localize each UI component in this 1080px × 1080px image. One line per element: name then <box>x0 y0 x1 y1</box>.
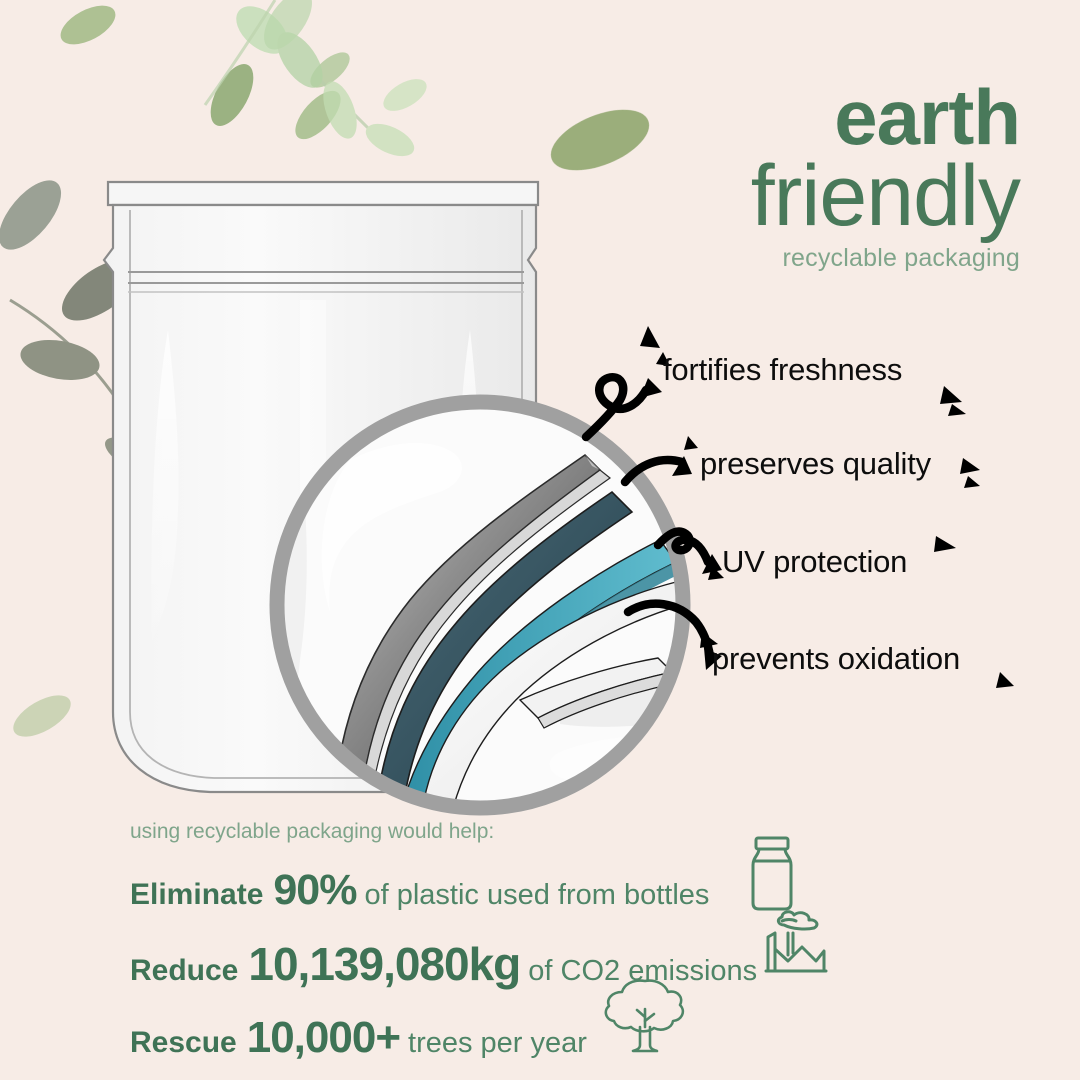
bottle-icon <box>740 835 804 913</box>
stat-rest: trees per year <box>408 1027 587 1060</box>
factory-icon <box>762 903 830 975</box>
feature-label-fortifies-freshness: fortifies freshness <box>663 352 902 388</box>
headline-line-2: friendly <box>620 154 1020 238</box>
stat-value: 10,139,080kg <box>248 937 520 991</box>
stat-verb: Reduce <box>130 954 238 988</box>
headline-subtitle: recyclable packaging <box>620 244 1020 273</box>
stat-value: 90% <box>273 866 356 915</box>
feature-label-preserves-quality: preserves quality <box>700 446 931 482</box>
feature-label-prevents-oxidation: prevents oxidation <box>712 641 960 677</box>
poster-canvas: earth friendly recyclable packaging fort… <box>0 0 1080 1080</box>
tree-icon <box>600 975 690 1055</box>
stat-row-rescue: Rescue 10,000+ trees per year <box>130 1013 930 1063</box>
headline-line-1: earth <box>620 80 1020 154</box>
stat-rest: of plastic used from bottles <box>364 879 709 912</box>
stats-intro-text: using recyclable packaging would help: <box>130 820 930 844</box>
feature-label-uv-protection: UV protection <box>722 544 907 580</box>
stat-verb: Eliminate <box>130 878 263 912</box>
headline-block: earth friendly recyclable packaging <box>620 80 1020 273</box>
stat-value: 10,000+ <box>247 1013 400 1063</box>
stat-verb: Rescue <box>130 1026 237 1060</box>
